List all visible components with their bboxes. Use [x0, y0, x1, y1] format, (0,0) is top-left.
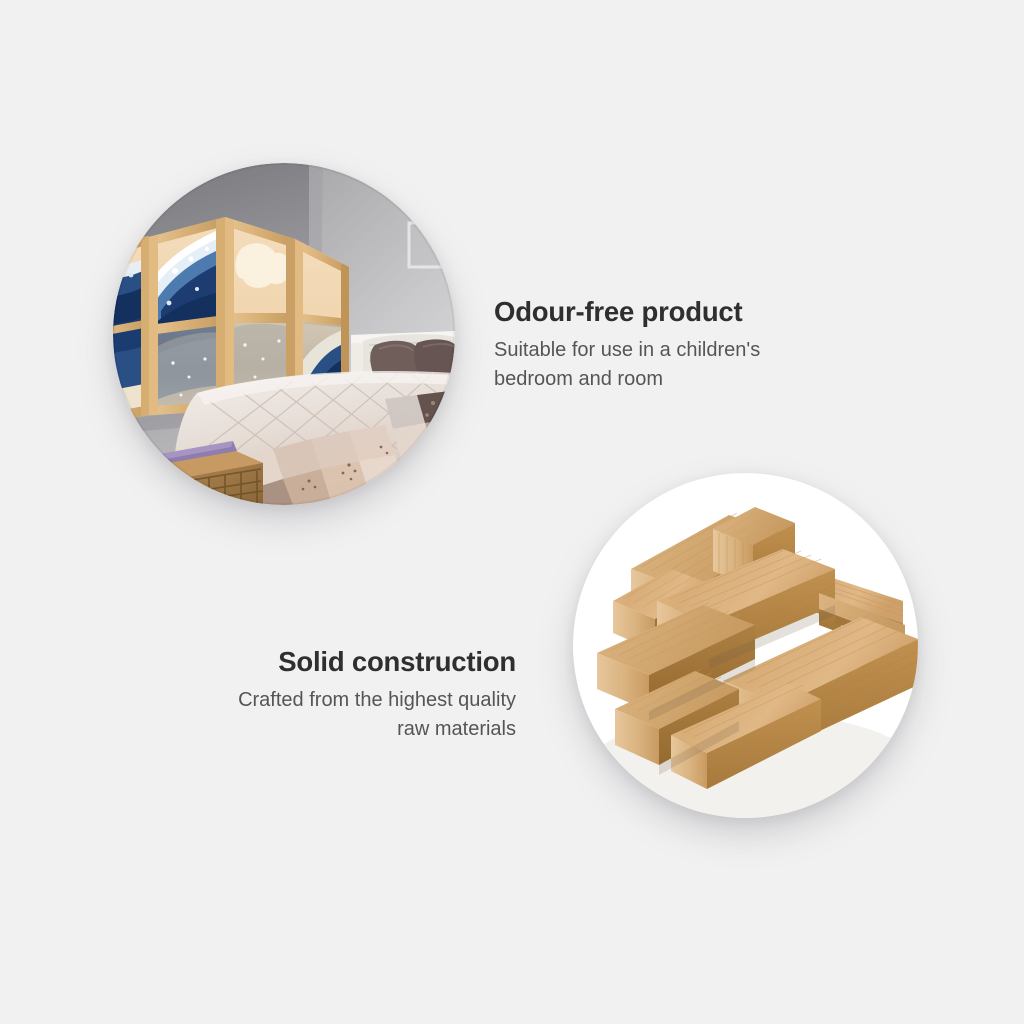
feature-text-odour-free: Odour-free product Suitable for use in a…: [494, 296, 894, 393]
feature-text-solid-construction: Solid construction Crafted from the high…: [116, 646, 516, 743]
infographic-canvas: Odour-free product Suitable for use in a…: [0, 0, 1024, 1024]
feature-subtitle-line-2: raw materials: [397, 718, 516, 740]
feature-subtitle-solid-construction: Crafted from the highest quality raw mat…: [116, 686, 516, 743]
feature-image-bedroom: [113, 163, 455, 505]
feature-subtitle-odour-free: Suitable for use in a children's bedroom…: [494, 336, 894, 393]
bedroom-scene-illustration: [113, 163, 455, 505]
feature-title-odour-free: Odour-free product: [494, 296, 894, 328]
feature-subtitle-line-1: Crafted from the highest quality: [238, 689, 516, 711]
feature-subtitle-line-1: Suitable for use in a children's: [494, 339, 760, 361]
feature-image-timber: [573, 473, 918, 818]
timber-blocks-illustration: [573, 473, 918, 818]
feature-title-solid-construction: Solid construction: [116, 646, 516, 678]
feature-subtitle-line-2: bedroom and room: [494, 368, 663, 390]
